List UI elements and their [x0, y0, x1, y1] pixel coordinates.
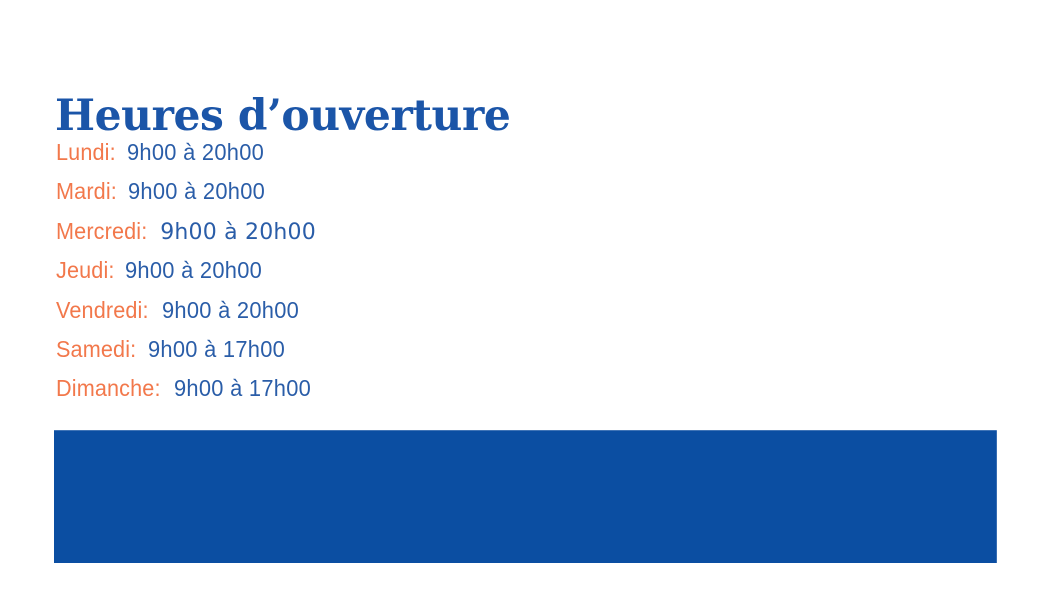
opening-hours-list: Lundi: 9h00 à 20h00 Mardi: 9h00 à 20h00 … [56, 133, 756, 409]
list-item: Vendredi: 9h00 à 20h00 [56, 291, 756, 330]
list-item: Dimanche: 9h00 à 17h00 [56, 369, 756, 408]
day-hours-value: 9h00 à 20h00 [128, 172, 265, 211]
day-label: Jeudi: [56, 251, 115, 290]
day-hours-value: 9h00 à 20h00 [160, 213, 316, 252]
list-item: Mardi: 9h00 à 20h00 [56, 172, 756, 211]
day-hours-value: 9h00 à 20h00 [125, 251, 262, 290]
day-label: Lundi: [56, 133, 116, 172]
day-hours-value: 9h00 à 17h00 [148, 330, 285, 369]
day-label: Vendredi: [56, 291, 149, 330]
list-item: Lundi: 9h00 à 20h00 [56, 133, 756, 172]
list-item: Jeudi: 9h00 à 20h00 [56, 251, 756, 290]
day-label: Mardi: [56, 172, 117, 211]
day-hours-value: 9h00 à 20h00 [127, 133, 264, 172]
content-placeholder-block [54, 430, 997, 563]
list-item: Mercredi: 9h00 à 20h00 [56, 212, 756, 251]
day-label: Mercredi: [56, 212, 147, 251]
slide-canvas: Heures d’ouverture Lundi: 9h00 à 20h00 M… [0, 0, 1050, 600]
list-item: Samedi: 9h00 à 17h00 [56, 330, 756, 369]
day-hours-value: 9h00 à 20h00 [162, 291, 299, 330]
day-hours-value: 9h00 à 17h00 [174, 369, 311, 408]
day-label: Samedi: [56, 330, 136, 369]
day-label: Dimanche: [56, 369, 161, 408]
